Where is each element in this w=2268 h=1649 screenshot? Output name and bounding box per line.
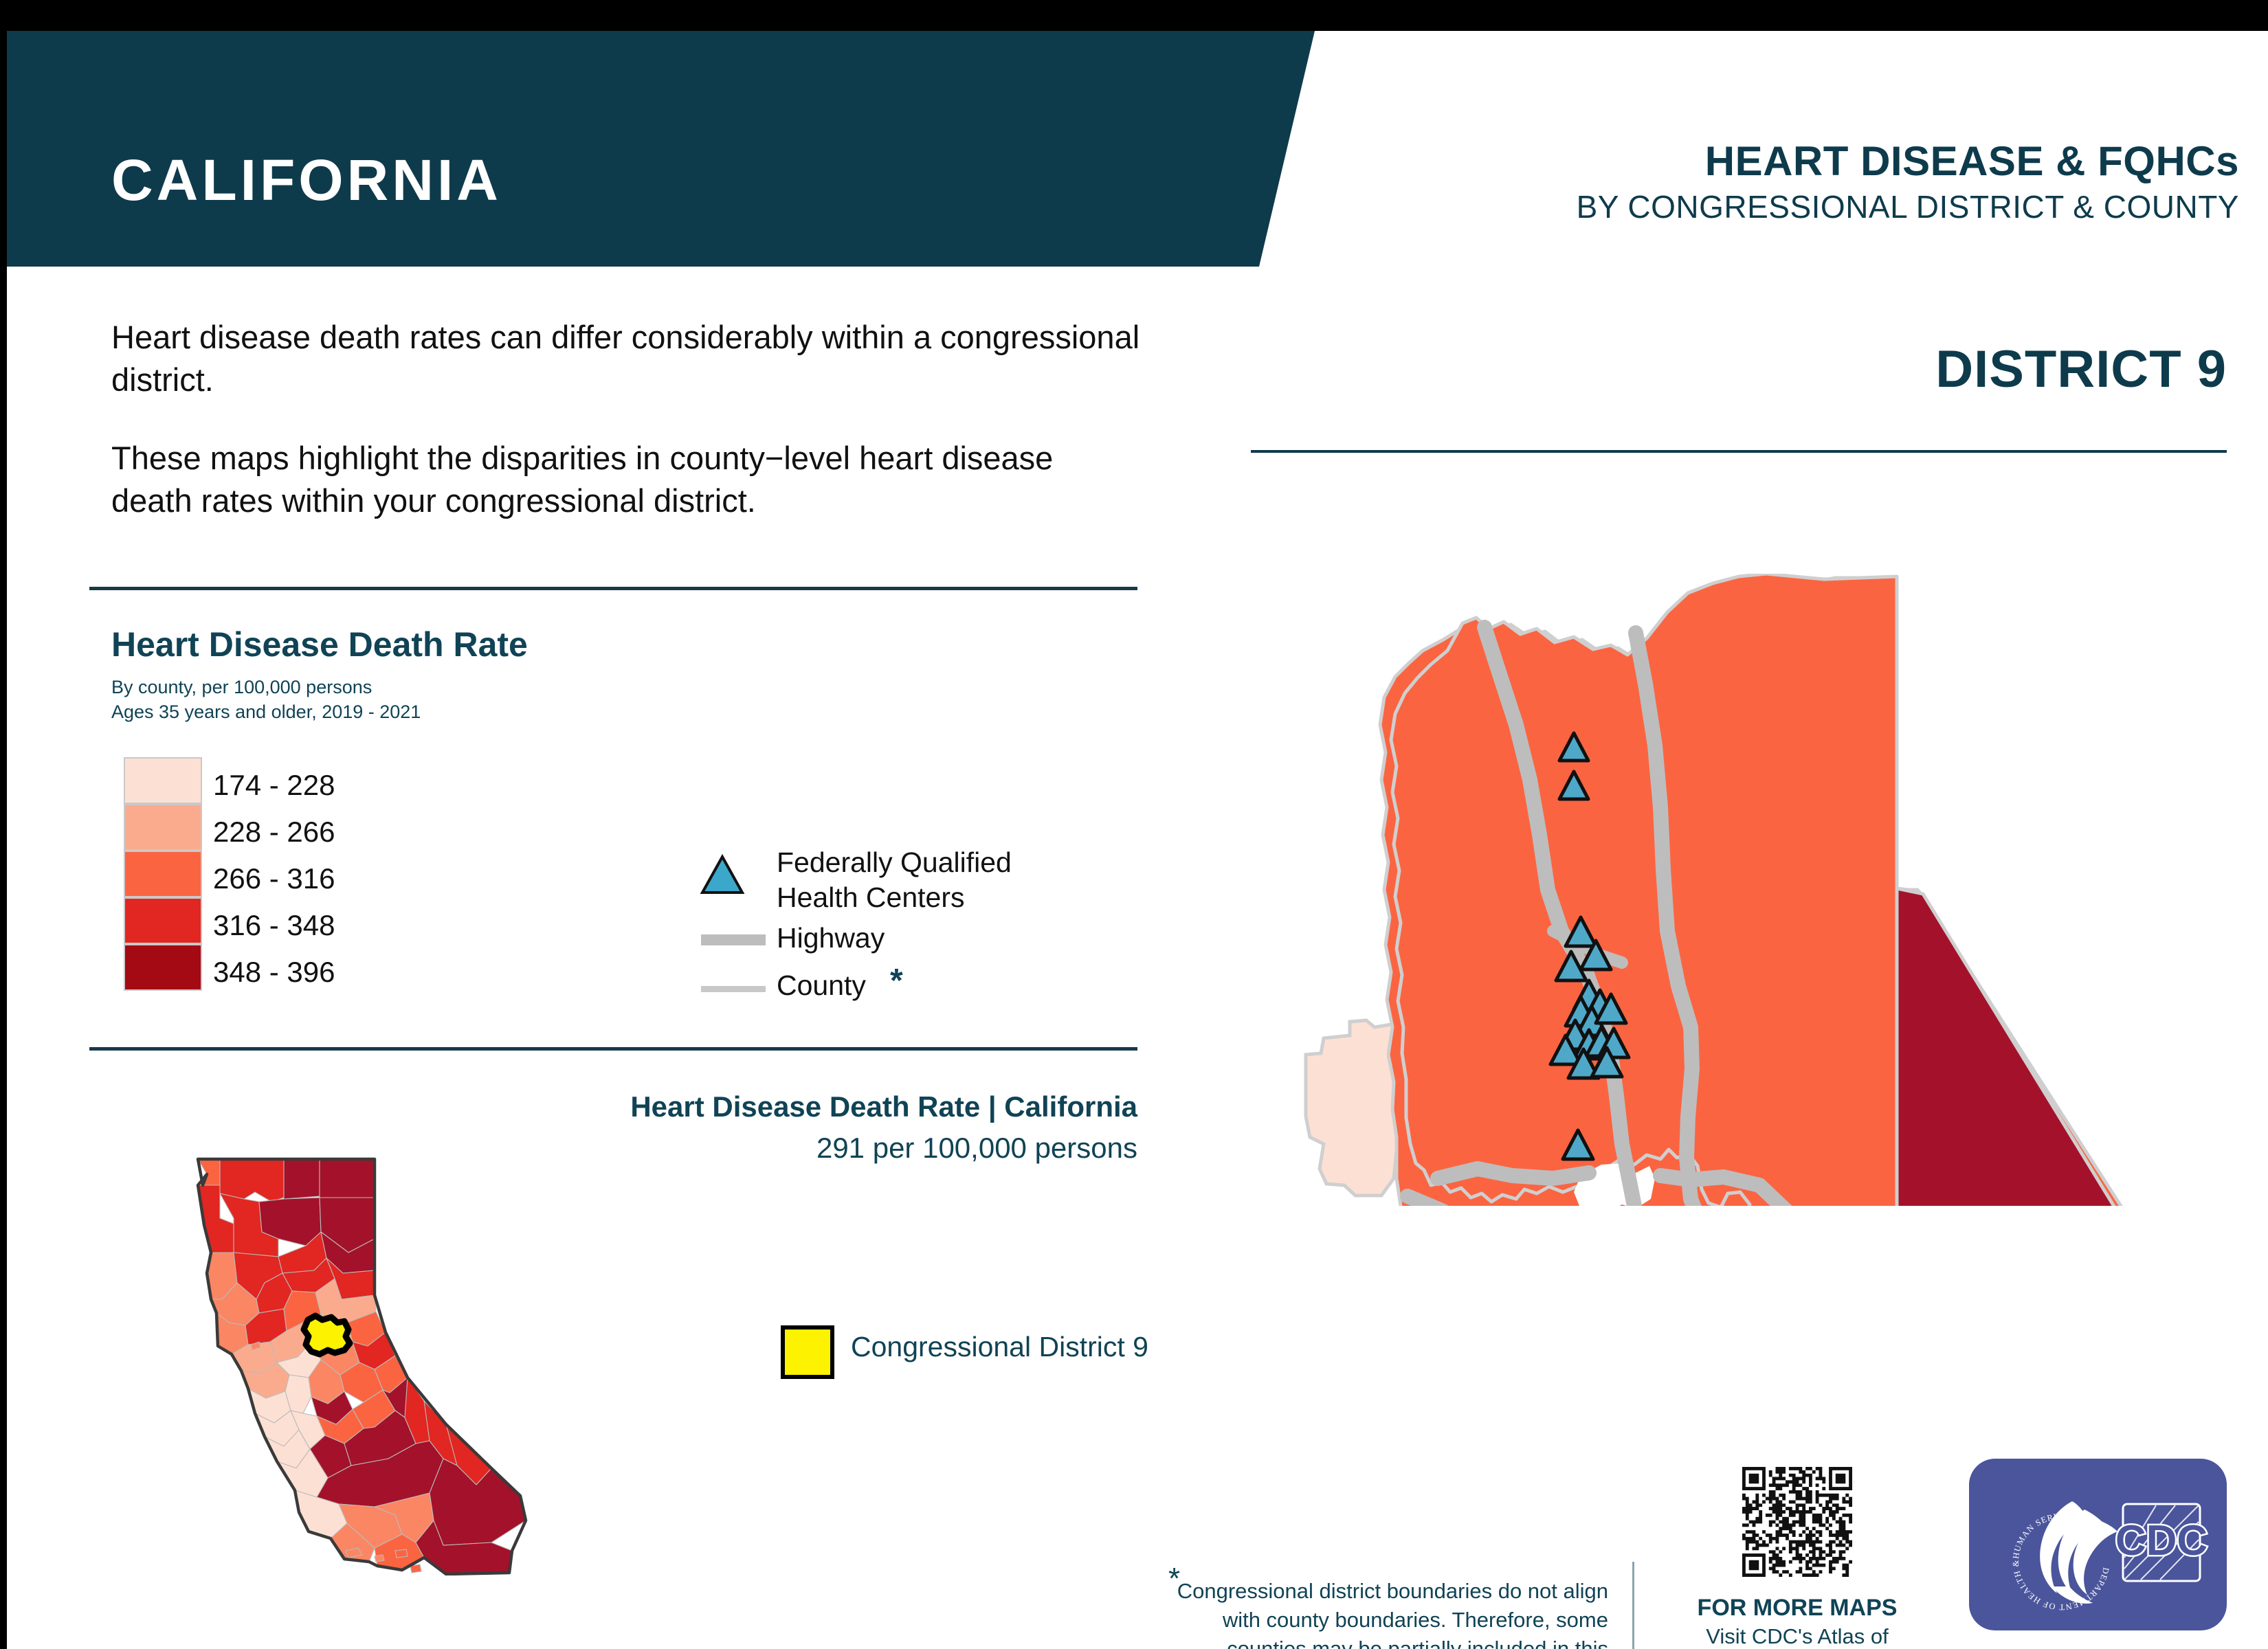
- legend-range-0: 174 - 228: [213, 771, 335, 800]
- legend-swatch-3: [124, 897, 202, 944]
- ca-map-caption-title: Heart Disease Death Rate | California: [364, 1092, 1137, 1121]
- fqhc-legend-label: Federally Qualified Health Centers: [777, 845, 1012, 915]
- cdc-text: CDC: [2115, 1517, 2208, 1564]
- california-choropleth: [168, 1136, 581, 1575]
- highway-legend-label: Highway: [777, 922, 885, 954]
- legend-title: Heart Disease Death Rate: [111, 627, 528, 662]
- legend-swatch-4: [124, 944, 202, 991]
- california-state-map: [168, 1136, 581, 1575]
- county-light-inset: [1306, 1020, 1401, 1196]
- poster-subtitle: BY CONGRESSIONAL DISTRICT & COUNTY: [1346, 191, 2239, 223]
- intro-paragraph-1: Heart disease death rates can differ con…: [111, 316, 1142, 401]
- fqhc-legend-line1: Federally Qualified: [777, 845, 1012, 880]
- district-label: DISTRICT 9: [1237, 344, 2227, 396]
- legend-subtitle-line1: By county, per 100,000 persons: [111, 675, 421, 700]
- poster-title: HEART DISEASE & FQHCs: [1414, 141, 2239, 182]
- legend-swatch-row: [124, 851, 202, 897]
- congressional-district-swatch: [781, 1325, 834, 1379]
- divider-top: [89, 587, 1137, 590]
- intro-text: Heart disease death rates can differ con…: [111, 316, 1142, 522]
- state-title: CALIFORNIA: [111, 151, 502, 209]
- legend-swatch-row: [124, 944, 202, 991]
- district-detail-map: [1278, 574, 2151, 1206]
- for-more-maps-line1: Visit CDC's Atlas of: [1660, 1624, 1935, 1649]
- cdc-wordmark: CDC: [2115, 1504, 2208, 1581]
- legend-swatch-row: [124, 757, 202, 804]
- legend-swatch-1: [124, 804, 202, 851]
- legend-swatch-list: [124, 757, 202, 991]
- legend-range-3: 316 - 348: [213, 911, 335, 940]
- poster-canvas: CALIFORNIA HEART DISEASE & FQHCs BY CONG…: [7, 31, 2268, 1649]
- legend-swatch-row: [124, 897, 202, 944]
- qr-code-icon[interactable]: [1742, 1467, 1852, 1577]
- highway-swatch-icon: [701, 934, 766, 945]
- legend-subtitle: By county, per 100,000 persons Ages 35 y…: [111, 675, 421, 725]
- for-more-maps-sub: Visit CDC's Atlas of Heart Disease and S…: [1660, 1624, 1935, 1649]
- cdc-logo-mark: HUMAN SERVICES-USA DEPARTMENT OF HEALTH …: [1969, 1459, 2227, 1630]
- footer-divider: [1632, 1562, 1634, 1649]
- county-dark-east: [1897, 888, 2131, 1206]
- legend-swatch-row: [124, 804, 202, 851]
- legend-swatch-2: [124, 851, 202, 897]
- congressional-district-swatch-label: Congressional District 9: [851, 1331, 1148, 1363]
- county-swatch-icon: [701, 986, 766, 992]
- intro-paragraph-2: These maps highlight the disparities in …: [111, 437, 1142, 522]
- legend-range-4: 348 - 396: [213, 958, 335, 987]
- for-more-maps-title: FOR MORE MAPS: [1674, 1596, 1921, 1619]
- district-9-map: [1278, 574, 2151, 1206]
- legend-subtitle-line2: Ages 35 years and older, 2019 - 2021: [111, 700, 421, 725]
- legend-range-1: 228 - 266: [213, 818, 335, 846]
- footnote-text: Congressional district boundaries do not…: [1168, 1577, 1608, 1649]
- divider-bottom: [89, 1047, 1137, 1051]
- county-legend-label: County: [777, 969, 866, 1002]
- fqhc-legend-line2: Health Centers: [777, 880, 1012, 915]
- fqhc-triangle-icon: [698, 853, 746, 897]
- district-rule: [1251, 450, 2227, 453]
- hhs-cdc-logo: HUMAN SERVICES-USA DEPARTMENT OF HEALTH …: [1969, 1459, 2227, 1630]
- highlighted-district-9: [304, 1316, 350, 1354]
- legend-range-2: 266 - 316: [213, 864, 335, 893]
- county-footnote-asterisk: *: [890, 962, 903, 1000]
- legend-swatch-0: [124, 757, 202, 804]
